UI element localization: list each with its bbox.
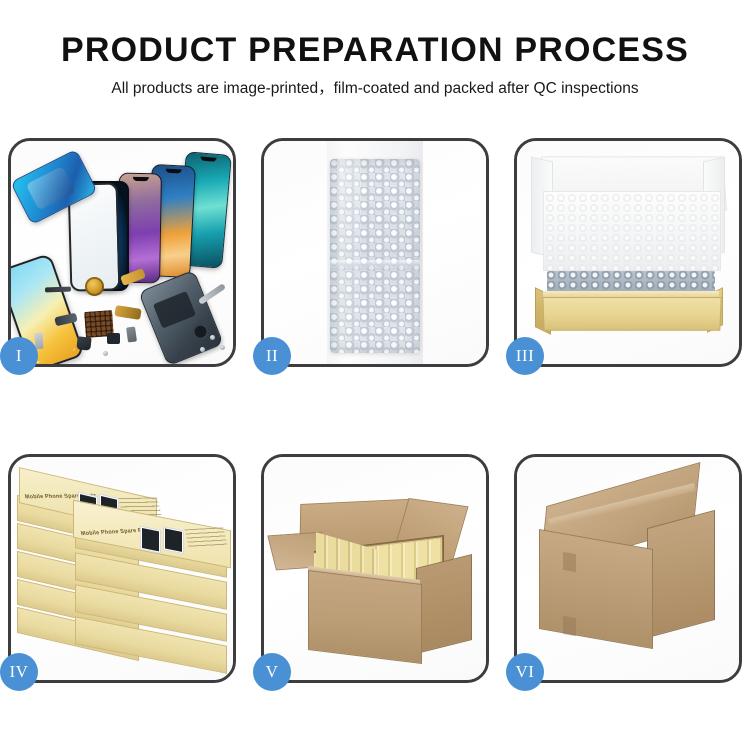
- page-title: PRODUCT PREPARATION PROCESS: [0, 30, 750, 70]
- step-badge-4: IV: [0, 653, 38, 691]
- speaker-module-icon: [76, 336, 91, 350]
- step-1-image: [11, 141, 233, 364]
- carton-hand-hole-icon: [563, 552, 576, 572]
- step-badge-1: I: [0, 337, 38, 375]
- carton-side-panel: [647, 510, 715, 638]
- carton-side-panel: [416, 554, 472, 654]
- process-step-4: Mobile Phone Spare Parts Mobile Phone Sp…: [8, 454, 236, 683]
- carton-front-panel: [308, 570, 422, 664]
- phone-back-housing-icon: [138, 270, 224, 364]
- step-badge-2: II: [253, 337, 291, 375]
- wireless-coil-icon: [85, 277, 104, 296]
- mailer-front-panel-icon: [542, 297, 721, 331]
- screw-icon: [220, 345, 225, 350]
- header: PRODUCT PREPARATION PROCESS All products…: [0, 30, 750, 99]
- step-6-image: [517, 457, 739, 680]
- step-badge-6: VI: [506, 653, 544, 691]
- process-step-1: I: [8, 138, 236, 367]
- step-badge-5: V: [253, 653, 291, 691]
- carton-front-panel: [539, 529, 653, 649]
- page-subtitle: All products are image-printed，film-coat…: [0, 79, 750, 99]
- flex-cable-icon: [114, 305, 141, 320]
- camera-module-icon: [107, 333, 120, 344]
- process-step-grid: I II III: [8, 138, 742, 683]
- step-5-image: [264, 457, 486, 680]
- bubble-wrap-pouch-icon: [330, 159, 420, 353]
- process-step-5: V: [261, 454, 489, 683]
- step-badge-3: III: [506, 337, 544, 375]
- step-2-image: [264, 141, 486, 364]
- screw-icon: [210, 335, 215, 340]
- process-step-3: III: [514, 138, 742, 367]
- step-3-image: [517, 141, 739, 364]
- box-spec-text: [184, 527, 227, 547]
- open-carton-scene: [264, 457, 486, 680]
- vibration-motor-icon: [126, 326, 137, 342]
- product-preparation-infographic: PRODUCT PREPARATION PROCESS All products…: [0, 0, 750, 750]
- box-artwork-thumb: [140, 526, 161, 554]
- carton-hand-hole-icon: [563, 616, 576, 636]
- foam-liner-icon: [543, 191, 721, 271]
- process-step-2: II: [261, 138, 489, 367]
- plastic-sheen: [337, 159, 360, 353]
- retail-box-stack: Mobile Phone Spare Parts Mobile Phone Sp…: [17, 475, 231, 671]
- process-step-6: VI: [514, 454, 742, 683]
- box-artwork-thumb: [163, 526, 184, 554]
- screw-icon: [103, 351, 108, 356]
- step-4-image: Mobile Phone Spare Parts Mobile Phone Sp…: [11, 457, 233, 680]
- phones-and-parts-scene: [11, 141, 233, 364]
- screw-icon: [200, 347, 205, 352]
- earpiece-mesh-icon: [45, 287, 71, 293]
